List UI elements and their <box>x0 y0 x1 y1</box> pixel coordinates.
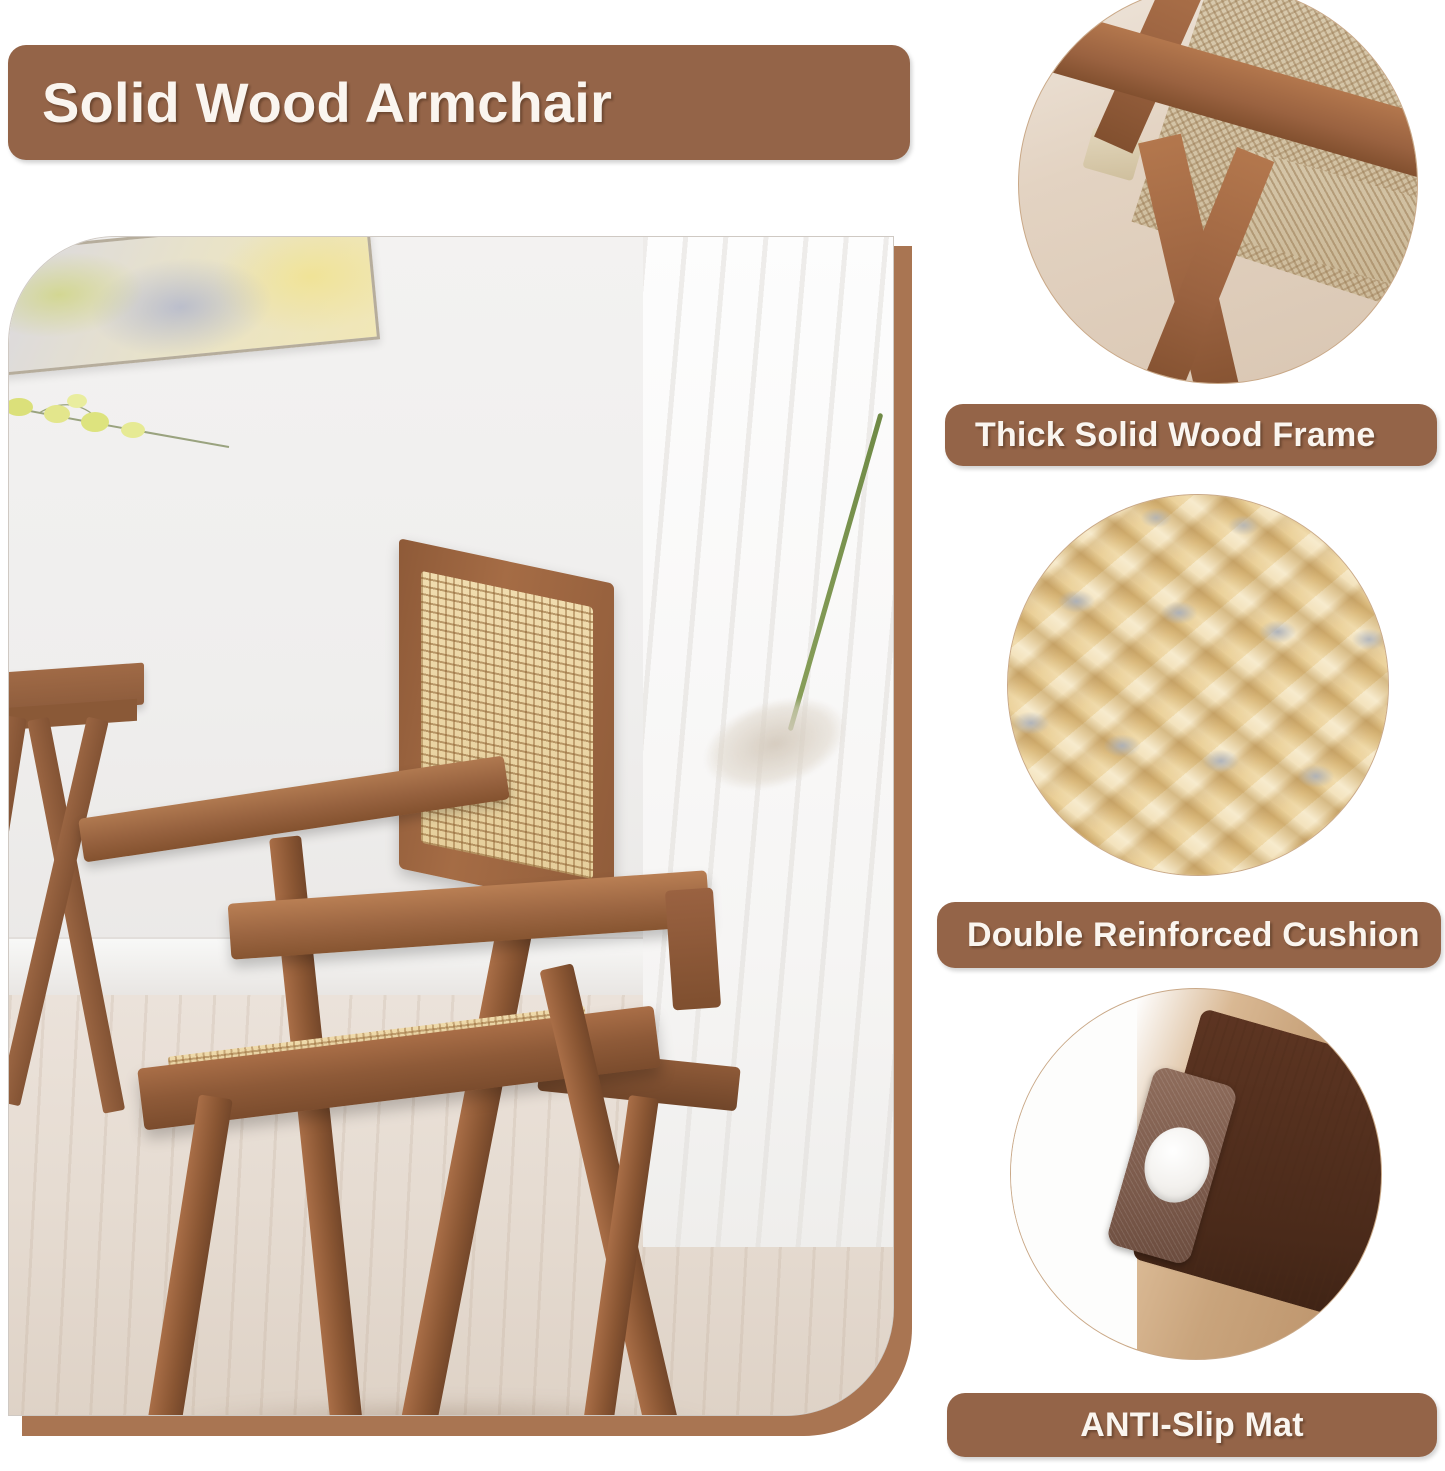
lifestyle-photo <box>8 236 894 1416</box>
chair-backrest-cane-panel <box>421 571 593 880</box>
feature-label-cushion: Double Reinforced Cushion <box>937 902 1441 968</box>
chair-armrest-support <box>665 887 721 1010</box>
blossom-branch-icon <box>8 387 299 467</box>
wood-frame-closeup <box>1018 0 1418 384</box>
feature-label-mat: ANTI-Slip Mat <box>947 1393 1437 1457</box>
armchair <box>69 537 829 1416</box>
title-badge: Solid Wood Armchair <box>8 45 910 160</box>
anti-slip-mat-closeup <box>1010 988 1382 1360</box>
background-wall-detail <box>1011 989 1137 1359</box>
feature-label-mat-text: ANTI-Slip Mat <box>1080 1406 1304 1445</box>
weave-openings <box>1008 495 1388 875</box>
main-photo-container <box>8 236 912 1436</box>
feature-label-frame: Thick Solid Wood Frame <box>945 404 1437 466</box>
feature-label-cushion-text: Double Reinforced Cushion <box>967 916 1420 955</box>
chair-leg <box>398 914 534 1416</box>
title-text: Solid Wood Armchair <box>42 70 612 135</box>
chair-leg <box>148 1094 233 1416</box>
rattan-weave-closeup <box>1007 494 1389 876</box>
feature-label-frame-text: Thick Solid Wood Frame <box>975 416 1375 455</box>
